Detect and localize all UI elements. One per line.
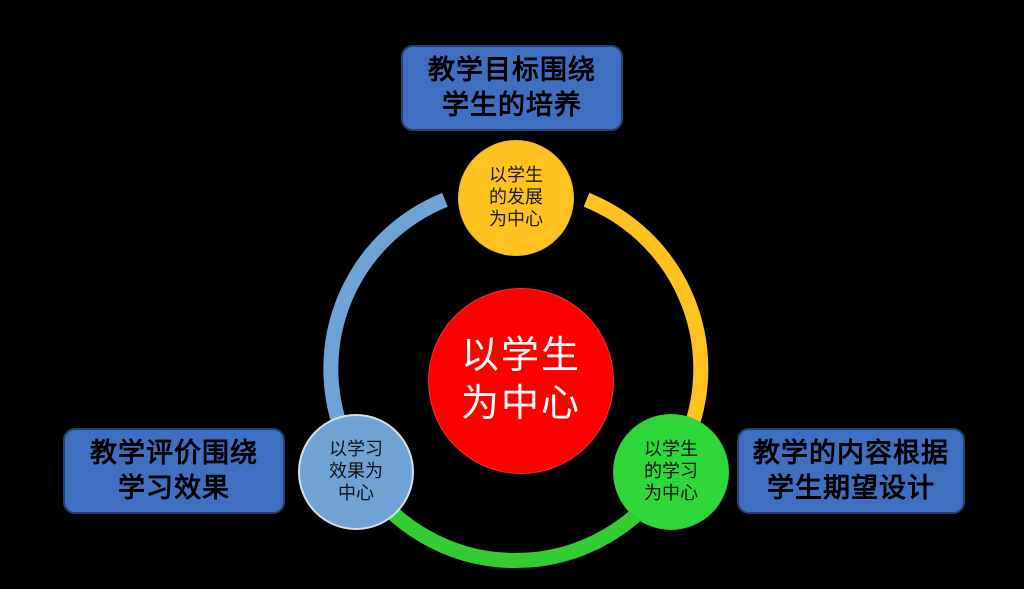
diagram-canvas: 教学目标围绕 学生的培养 教学评价围绕 学习效果 教学的内容根据 学生期望设计 …: [0, 0, 1024, 589]
callout-right[interactable]: 教学的内容根据 学生期望设计: [737, 428, 965, 514]
node-top-line-3: 为中心: [489, 209, 543, 231]
center-hub-line-1: 以学生: [461, 333, 581, 381]
node-right-line-1: 以学生: [644, 439, 698, 461]
center-hub-line-2: 为中心: [461, 381, 581, 429]
node-top-line-2: 的发展: [489, 187, 543, 209]
callout-left[interactable]: 教学评价围绕 学习效果: [63, 428, 285, 514]
arc-upper-left-path: [331, 200, 445, 434]
callout-top[interactable]: 教学目标围绕 学生的培养: [401, 45, 623, 131]
callout-right-line-2: 学生期望设计: [767, 471, 935, 506]
node-left-line-2: 效果为: [329, 461, 383, 483]
node-left-line-3: 中心: [338, 483, 374, 505]
center-hub-circle[interactable]: 以学生 为中心: [428, 288, 614, 474]
node-top-line-1: 以学生: [489, 165, 543, 187]
node-right-line-3: 为中心: [644, 483, 698, 505]
node-circle-right[interactable]: 以学生 的学习 为中心: [613, 414, 729, 530]
callout-left-line-1: 教学评价围绕: [90, 436, 258, 471]
callout-top-line-1: 教学目标围绕: [428, 53, 596, 88]
node-right-line-2: 的学习: [644, 461, 698, 483]
callout-left-line-2: 学习效果: [118, 471, 230, 506]
node-circle-top[interactable]: 以学生 的发展 为中心: [458, 140, 574, 256]
node-left-line-1: 以学习: [329, 439, 383, 461]
callout-top-line-2: 学生的培养: [442, 88, 582, 123]
callout-right-line-1: 教学的内容根据: [753, 436, 949, 471]
node-circle-left[interactable]: 以学习 效果为 中心: [298, 414, 414, 530]
